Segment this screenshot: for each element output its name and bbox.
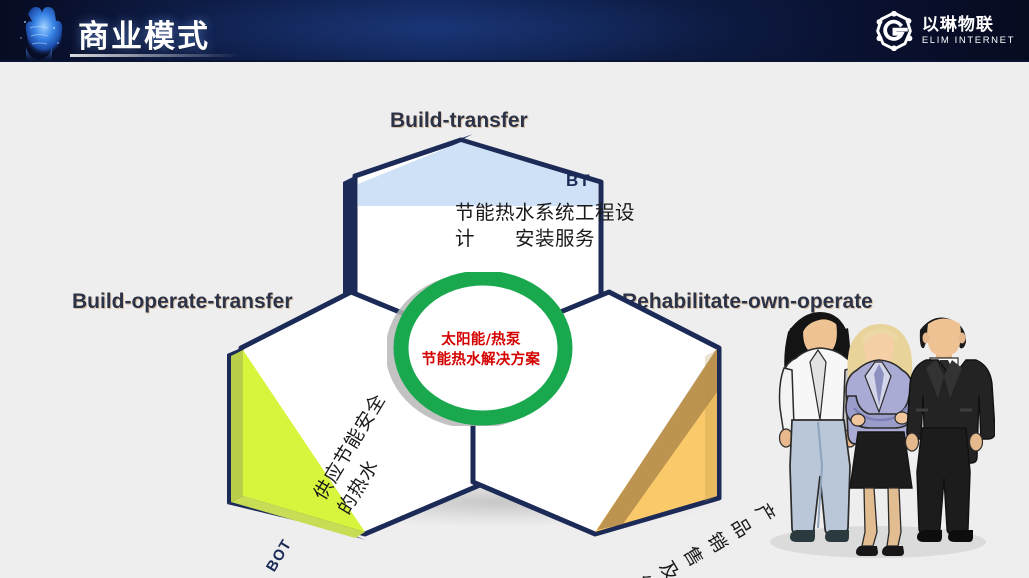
slide-body: Build-transfer Build-operate-transfer Re… [0,62,1029,578]
page-title: 商业模式 [78,11,210,56]
business-people-illustration [760,292,995,562]
center-line-2: 节能热水解决方案 [422,350,540,370]
fist-icon [8,0,70,62]
elim-logo-mark-icon [874,11,914,51]
hexagon-diagram: BT 节能热水系统工程设 计 安装服务 BOT 供应节能安全 的热水 [215,134,745,534]
logo-chinese-name: 以琳物联 [922,16,1015,35]
label-build-transfer: Build-transfer [390,109,528,133]
page-header: 商业模式 以琳物联 ELIM INTERNET [0,0,1029,62]
brand-logo: 以琳物联 ELIM INTERNET [874,10,1015,52]
center-solution-text: 太阳能/热泵 节能热水解决方案 [398,320,564,380]
person-left [780,312,858,542]
person-right [906,318,996,542]
person-middle [846,324,915,556]
hexagon-bt-tag: BT [566,171,591,191]
title-underline [70,54,240,57]
center-line-1: 太阳能/热泵 [441,330,521,350]
hexagon-bot-tag: BOT [263,536,295,574]
logo-english-name: ELIM INTERNET [922,35,1015,47]
hexagon-bt-body: 节能热水系统工程设 计 安装服务 [455,200,705,252]
